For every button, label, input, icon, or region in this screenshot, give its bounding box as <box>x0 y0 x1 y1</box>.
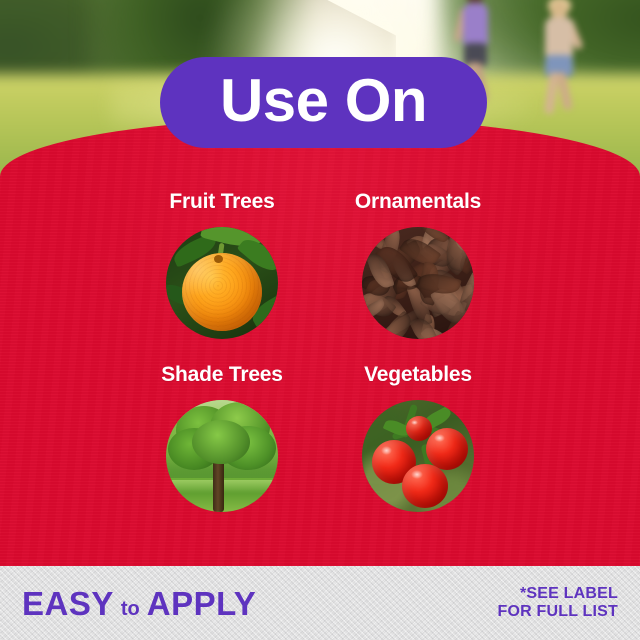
see-label-line-2: FOR FULL LIST <box>497 603 618 621</box>
category-item-fruit-trees[interactable]: Fruit Trees <box>124 190 320 339</box>
category-item-shade-trees[interactable]: Shade Trees <box>124 363 320 512</box>
see-label-disclaimer: *SEE LABEL FOR FULL LIST <box>497 585 618 622</box>
category-item-ornamentals[interactable]: Ornamentals <box>320 190 516 339</box>
category-label-fruit-trees: Fruit Trees <box>169 190 274 214</box>
category-label-ornamentals: Ornamentals <box>355 190 481 214</box>
to-word: to <box>121 599 140 619</box>
tomatoes-on-vine-photo <box>362 400 474 512</box>
use-on-badge: Use On <box>160 57 487 148</box>
use-on-badge-label: Use On <box>220 71 427 131</box>
child-figure-right <box>536 0 582 126</box>
see-label-line-1: *SEE LABEL <box>497 585 618 603</box>
orange-on-tree-photo <box>166 227 278 339</box>
footer-bar: EASY to APPLY *SEE LABEL FOR FULL LIST <box>0 566 640 640</box>
use-on-promo-graphic: Use On Fruit Trees Ornamentals Shade <box>0 0 640 640</box>
bronze-ornamental-foliage-photo <box>362 227 474 339</box>
apply-word: APPLY <box>147 587 257 620</box>
category-label-shade-trees: Shade Trees <box>161 363 283 387</box>
easy-to-apply-headline: EASY to APPLY <box>22 587 256 620</box>
category-item-vegetables[interactable]: Vegetables <box>320 363 516 512</box>
category-label-vegetables: Vegetables <box>364 363 472 387</box>
category-grid: Fruit Trees Ornamentals Shade Trees <box>0 190 640 512</box>
shade-tree-photo <box>166 400 278 512</box>
easy-word: EASY <box>22 587 114 620</box>
